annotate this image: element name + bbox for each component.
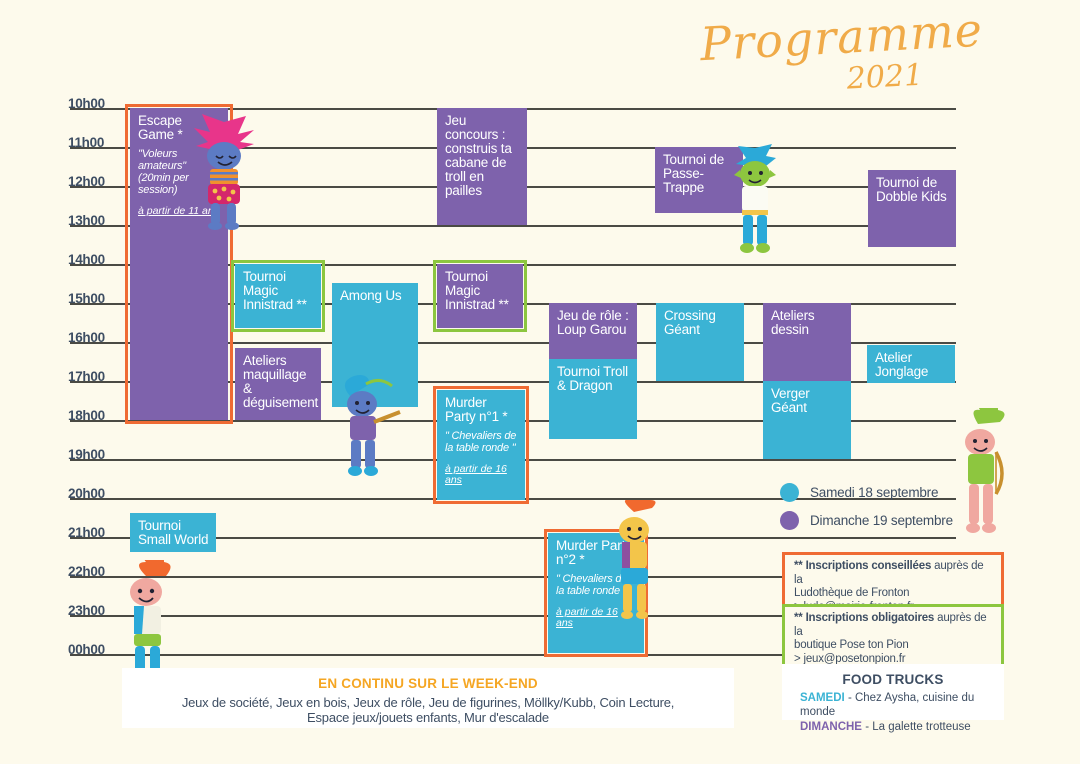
block-ateliers-maquillage-deguisement[interactable]: Ateliers maquillage & déguisement xyxy=(235,348,321,420)
food-truck-day-samedi: SAMEDI xyxy=(800,692,845,704)
banner-food-trucks: FOOD TRUCKS SAMEDI - Chez Aysha, cuisine… xyxy=(782,664,1004,720)
block-tournoi-magic-innistrad-dimanche[interactable]: Tournoi Magic Innistrad ** xyxy=(437,264,523,328)
food-truck-row-samedi: SAMEDI - Chez Aysha, cuisine du monde xyxy=(788,691,998,720)
block-ateliers-dessin[interactable]: Ateliers dessin xyxy=(763,303,851,381)
block-jeu-de-role-loup-garou[interactable]: Jeu de rôle : Loup Garou xyxy=(549,303,637,359)
block-title: Murder Party n°1 * xyxy=(445,396,518,424)
block-tournoi-dobble-kids[interactable]: Tournoi de Dobble Kids xyxy=(868,170,956,247)
block-tournoi-small-world[interactable]: Tournoi Small World xyxy=(130,513,216,552)
food-trucks-heading: FOOD TRUCKS xyxy=(788,672,998,687)
food-truck-row-dimanche: DIMANCHE - La galette trotteuse xyxy=(788,720,998,734)
legend-dot-dimanche-icon xyxy=(780,511,799,530)
block-murder-party-1[interactable]: Murder Party n°1 * " Chevaliers de la ta… xyxy=(437,390,525,500)
block-title: Atelier Jonglage xyxy=(875,351,948,379)
poster-title: Programme 2021 xyxy=(700,14,980,97)
banner-heading: EN CONTINU SUR LE WEEK-END xyxy=(128,676,728,691)
infobox-line-2: boutique Pose ton Pion xyxy=(794,639,993,653)
block-crossing-geant[interactable]: Crossing Géant xyxy=(656,303,744,381)
infobox-line-2: Ludothèque de Fronton xyxy=(794,587,993,601)
legend-item-dimanche: Dimanche 19 septembre xyxy=(780,511,953,530)
legend-label-dimanche: Dimanche 19 septembre xyxy=(810,513,953,528)
food-truck-day-dimanche: DIMANCHE xyxy=(800,721,862,733)
block-tournoi-magic-innistrad-samedi[interactable]: Tournoi Magic Innistrad ** xyxy=(235,264,321,328)
infobox-line-1: ** Inscriptions conseillées auprès de la xyxy=(794,560,993,587)
programme-poster: Programme 2021 10h00 11h00 12h00 13h00 1… xyxy=(0,0,1080,764)
block-title: Among Us xyxy=(340,289,411,303)
legend-dot-samedi-icon xyxy=(780,483,799,502)
legend: Samedi 18 septembre Dimanche 19 septembr… xyxy=(780,483,953,539)
block-title: Jeu de rôle : Loup Garou xyxy=(557,309,630,337)
food-truck-text-dimanche: - La galette trotteuse xyxy=(865,721,970,733)
block-title: Tournoi Magic Innistrad ** xyxy=(243,270,314,312)
troll-green-hair-archer-illustration xyxy=(946,408,1016,538)
block-age: à partir de 16 ans xyxy=(445,464,518,487)
block-title: Tournoi Small World xyxy=(138,519,209,547)
infobox-marker: ** xyxy=(794,612,803,624)
block-title: Crossing Géant xyxy=(664,309,737,337)
infobox-marker: ** xyxy=(794,560,803,572)
legend-label-samedi: Samedi 18 septembre xyxy=(810,485,938,500)
block-subtitle: " Chevaliers de la table ronde " xyxy=(445,431,518,455)
block-verger-geant[interactable]: Verger Géant xyxy=(763,381,851,459)
troll-green-blue-hair-illustration xyxy=(726,142,784,256)
infobox-strong: Inscriptions obligatoires xyxy=(806,612,935,624)
banner-line-1: Jeux de société, Jeux en bois, Jeux de r… xyxy=(128,696,728,711)
infobox-strong: Inscriptions conseillées xyxy=(806,560,932,572)
block-title: Jeu concours : construis ta cabane de tr… xyxy=(445,114,520,198)
banner-en-continu: EN CONTINU SUR LE WEEK-END Jeux de socié… xyxy=(122,668,734,728)
troll-teal-purple-illustration xyxy=(330,372,410,482)
infobox-line-1: ** Inscriptions obligatoires auprès de l… xyxy=(794,612,993,639)
block-tournoi-troll-dragon[interactable]: Tournoi Troll & Dragon xyxy=(549,359,637,439)
troll-blue-pink-hair-illustration xyxy=(188,112,260,230)
troll-orange-hair-illustration xyxy=(604,500,662,620)
block-title: Ateliers dessin xyxy=(771,309,844,337)
block-title: Tournoi de Dobble Kids xyxy=(876,176,949,204)
block-title: Ateliers maquillage & déguisement xyxy=(243,354,314,410)
block-jeu-concours[interactable]: Jeu concours : construis ta cabane de tr… xyxy=(437,108,527,225)
block-title: Tournoi Troll & Dragon xyxy=(557,365,630,393)
block-atelier-jonglage[interactable]: Atelier Jonglage xyxy=(867,345,955,383)
block-title: Verger Géant xyxy=(771,387,844,415)
banner-line-2: Espace jeux/jouets enfants, Mur d'escala… xyxy=(128,711,728,726)
troll-bottom-left-illustration xyxy=(112,560,182,685)
block-title: Tournoi Magic Innistrad ** xyxy=(445,270,516,312)
legend-item-samedi: Samedi 18 septembre xyxy=(780,483,953,502)
